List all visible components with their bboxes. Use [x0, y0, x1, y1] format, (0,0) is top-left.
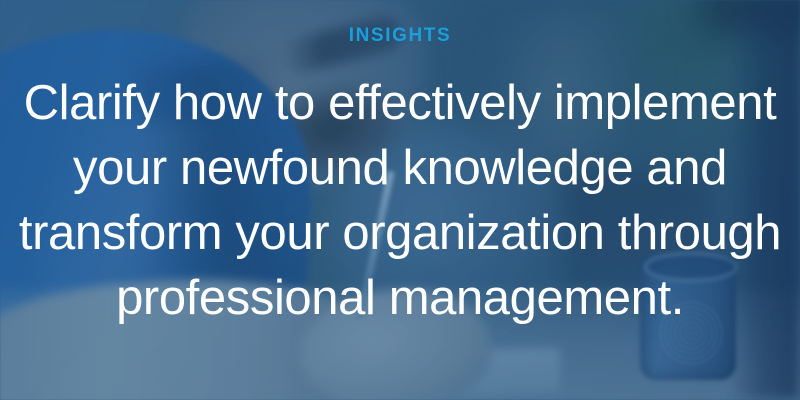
headline-line-3: transform your organization through	[6, 201, 794, 266]
headline-line-1: Clarify how to effectively implement	[6, 71, 794, 136]
headline-line-4: professional management.	[6, 266, 794, 331]
eyebrow-label: INSIGHTS	[349, 26, 452, 45]
text-content: INSIGHTS Clarify how to effectively impl…	[0, 0, 800, 400]
insights-quote-card: INSIGHTS Clarify how to effectively impl…	[0, 0, 800, 400]
headline-line-2: your newfound knowledge and	[6, 136, 794, 201]
headline: Clarify how to effectively implement you…	[0, 71, 800, 331]
